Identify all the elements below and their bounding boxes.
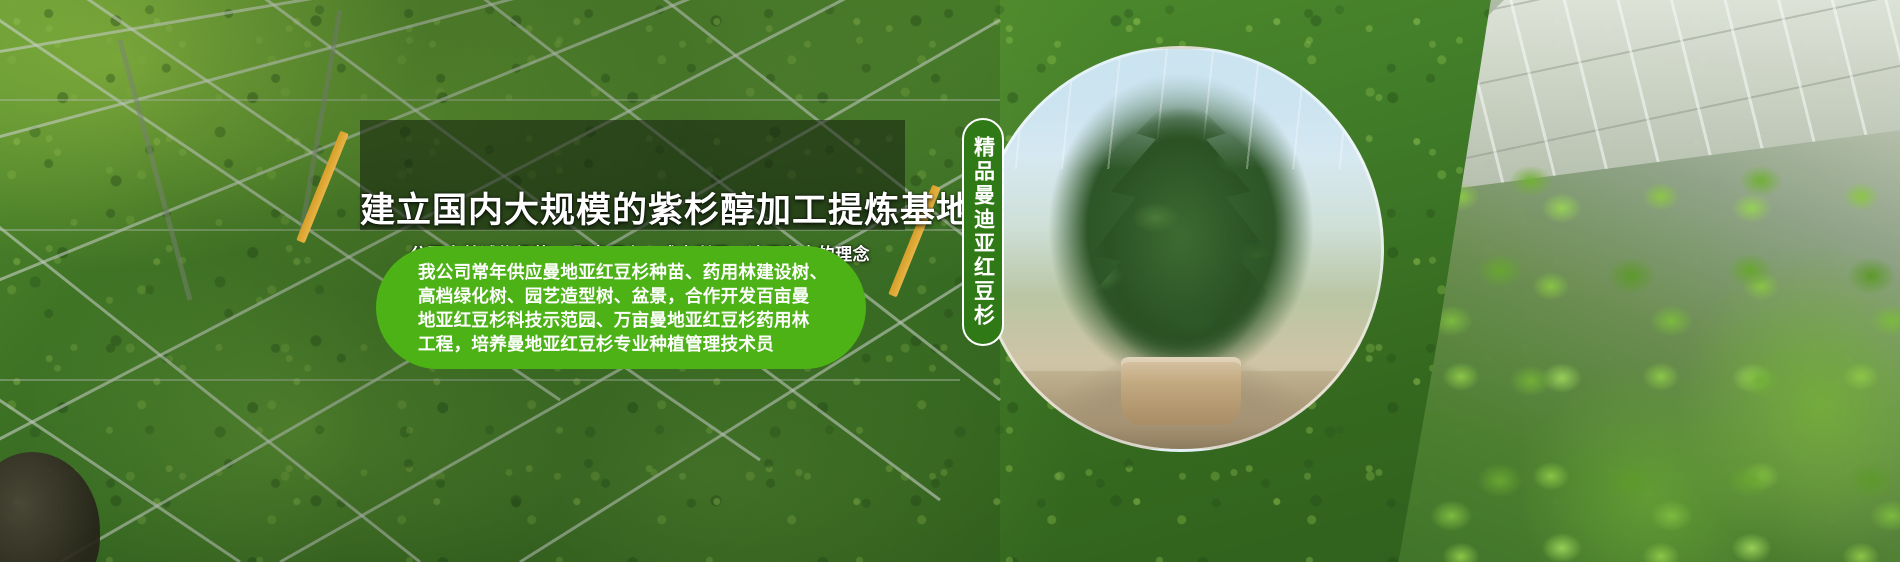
vertical-product-label-text: 精品曼迪亚红豆杉	[973, 136, 994, 328]
plant-pot	[1121, 357, 1241, 425]
banner-headline: 建立国内大规模的紫杉醇加工提炼基地	[360, 193, 920, 228]
product-photo-circle	[978, 46, 1384, 452]
grape-vines	[1425, 157, 1900, 562]
info-box: 我公司常年供应曼地亚红豆杉种苗、药用林建设树、 高档绿化树、园艺造型树、盆景，合…	[376, 246, 866, 369]
info-line-2: 高档绿化树、园艺造型树、盆景，合作开发百亩曼	[418, 284, 843, 308]
info-line-4: 工程，培养曼地亚红豆杉专业种植管理技术员	[418, 332, 843, 356]
info-box-text: 我公司常年供应曼地亚红豆杉种苗、药用林建设树、 高档绿化树、园艺造型树、盆景，合…	[418, 260, 843, 356]
info-line-1: 我公司常年供应曼地亚红豆杉种苗、药用林建设树、	[418, 260, 843, 284]
promotional-banner: 建立国内大规模的紫杉醇加工提炼基地 公司本着诚信经营、 顾客至上、成人利己、达己…	[0, 0, 1900, 562]
info-line-3: 地亚红豆杉科技示范园、万亩曼地亚红豆杉药用林	[418, 308, 843, 332]
vertical-product-label: 精品曼迪亚红豆杉	[962, 118, 1004, 346]
